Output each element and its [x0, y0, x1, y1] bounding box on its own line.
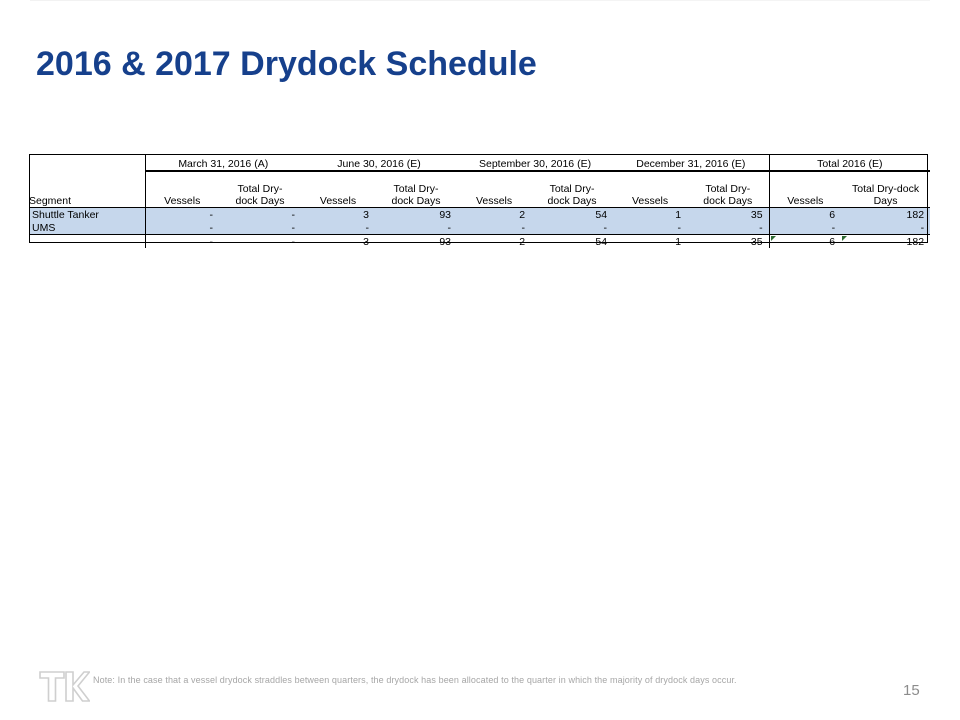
drydock-schedule-table: March 31, 2016 (A) June 30, 2016 (E) Sep… [29, 154, 928, 248]
cell-total-q4-days: 35 [687, 235, 769, 249]
cell-comment-marker-icon [842, 236, 847, 241]
cell-q3-days: 54 [531, 208, 613, 222]
cell-grand-total-days: 182 [841, 235, 930, 249]
schedule-table: March 31, 2016 (A) June 30, 2016 (E) Sep… [29, 154, 930, 248]
cell-q4-days: 35 [687, 208, 769, 222]
column-header-q2-vessels: Vessels [301, 171, 375, 208]
column-header-segment: Segment [29, 171, 145, 208]
page-title: 2016 & 2017 Drydock Schedule [36, 43, 537, 85]
cell-q2-days: - [375, 221, 457, 235]
cell-total-q4-vessels: 1 [613, 235, 687, 249]
table-group-header-row: March 31, 2016 (A) June 30, 2016 (E) Sep… [29, 154, 930, 171]
cell-total-days: 182 [841, 208, 930, 222]
group-header-q1: March 31, 2016 (A) [145, 154, 301, 171]
table-row: UMS - - - - - - - - - - [29, 221, 930, 235]
slide-canvas: 2016 & 2017 Drydock Schedule March 31, 2… [0, 0, 960, 720]
cell-q4-vessels: 1 [613, 208, 687, 222]
days-label-line1: Total Dry- [394, 183, 439, 195]
days-label-line2: dock Days [235, 195, 284, 207]
cell-q1-vessels: - [145, 221, 219, 235]
days-label-line2: dock Days [392, 195, 441, 207]
column-header-q4-vessels: Vessels [613, 171, 687, 208]
group-header-q3: September 30, 2016 (E) [457, 154, 613, 171]
cell-grand-total-vessels-value: 6 [829, 236, 835, 248]
footer-note: Note: In the case that a vessel drydock … [93, 675, 737, 685]
group-header-total: Total 2016 (E) [769, 154, 930, 171]
column-header-q3-vessels: Vessels [457, 171, 531, 208]
cell-total-q3-vessels: 2 [457, 235, 531, 249]
cell-total-q2-vessels: 3 [301, 235, 375, 249]
table-row: Shuttle Tanker - - 3 93 2 54 1 35 6 182 [29, 208, 930, 222]
group-header-q2: June 30, 2016 (E) [301, 154, 457, 171]
days-label-line2: dock Days [703, 195, 752, 207]
cell-q4-vessels: - [613, 221, 687, 235]
days-label-line1: Total Dry- [550, 183, 595, 195]
days-label-line1: Total Dry- [705, 183, 750, 195]
cell-total-days: - [841, 221, 930, 235]
column-header-q2-days: Total Dry- dock Days [375, 171, 457, 208]
cell-comment-marker-icon [771, 236, 776, 241]
days-label-line1: Total Dry- [238, 183, 283, 195]
cell-grand-total-vessels: 6 [769, 235, 841, 249]
cell-total-label [29, 235, 145, 249]
cell-q2-vessels: - [301, 221, 375, 235]
cell-q3-days: - [531, 221, 613, 235]
cell-q2-vessels: 3 [301, 208, 375, 222]
column-header-q1-vessels: Vessels [145, 171, 219, 208]
top-divider-line-secondary [480, 0, 930, 1]
cell-total-vessels: - [769, 221, 841, 235]
cell-grand-total-days-value: 182 [907, 236, 925, 248]
total-days-label-line2: Days [874, 195, 898, 207]
column-header-q3-days: Total Dry- dock Days [531, 171, 613, 208]
column-header-total-days: Total Dry-dock Days [841, 171, 930, 208]
cell-segment: UMS [29, 221, 145, 235]
group-header-spacer [29, 154, 145, 171]
column-header-total-vessels: Vessels [769, 171, 841, 208]
cell-total-q1-days: - [219, 235, 301, 249]
table-subheader-row: Segment Vessels Total Dry- dock Days Ves… [29, 171, 930, 208]
tk-logo-icon [38, 668, 90, 706]
cell-q1-days: - [219, 208, 301, 222]
cell-total-q1-vessels: - [145, 235, 219, 249]
table-total-row: - - 3 93 2 54 1 35 6 182 [29, 235, 930, 249]
cell-total-q2-days: 93 [375, 235, 457, 249]
cell-q3-vessels: - [457, 221, 531, 235]
days-label-line2: dock Days [548, 195, 597, 207]
cell-q3-vessels: 2 [457, 208, 531, 222]
cell-q2-days: 93 [375, 208, 457, 222]
cell-q1-vessels: - [145, 208, 219, 222]
cell-q4-days: - [687, 221, 769, 235]
page-number: 15 [903, 682, 920, 699]
cell-q1-days: - [219, 221, 301, 235]
cell-total-q3-days: 54 [531, 235, 613, 249]
column-header-q1-days: Total Dry- dock Days [219, 171, 301, 208]
group-header-q4: December 31, 2016 (E) [613, 154, 769, 171]
total-days-label-line1: Total Dry-dock [852, 183, 919, 195]
column-header-q4-days: Total Dry- dock Days [687, 171, 769, 208]
cell-segment: Shuttle Tanker [29, 208, 145, 222]
cell-total-vessels: 6 [769, 208, 841, 222]
